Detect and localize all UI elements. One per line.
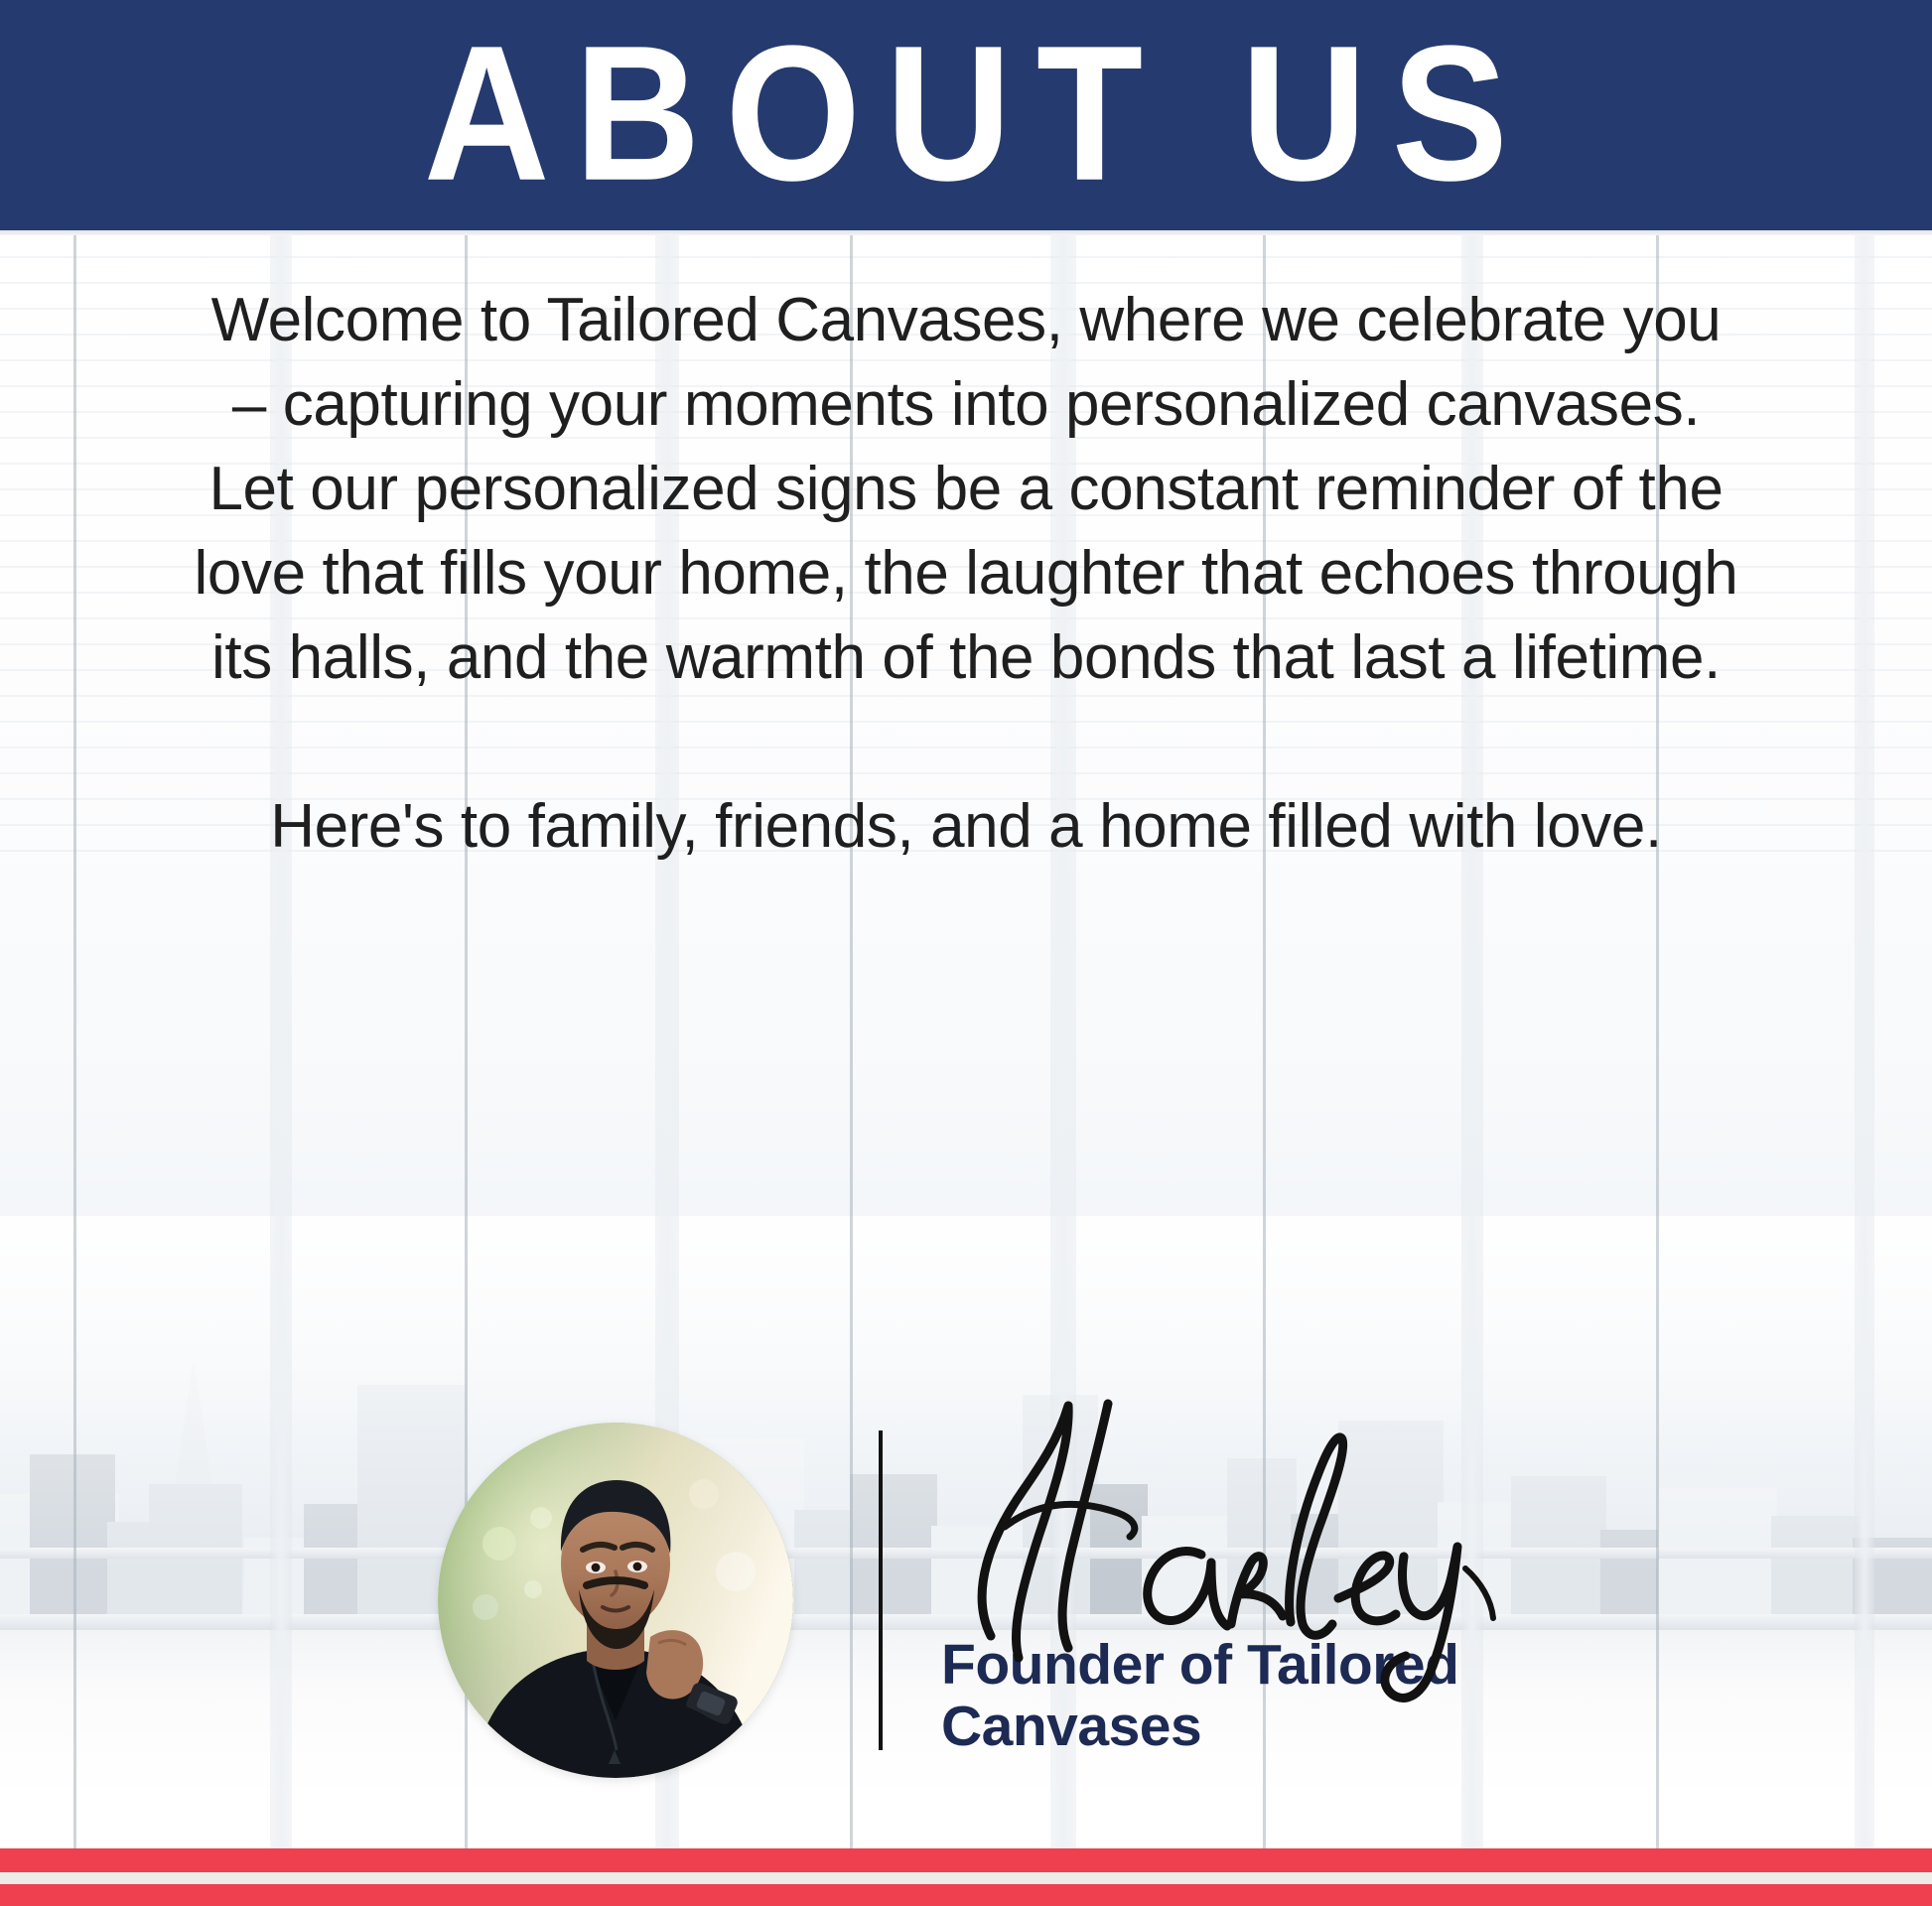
- founder-role-line-2: Canvases: [941, 1696, 1636, 1757]
- about-copy: Welcome to Tailored Canvases, where we c…: [194, 278, 1738, 869]
- about-paragraph-1: Welcome to Tailored Canvases, where we c…: [194, 278, 1738, 700]
- founder-role: Founder of Tailored Canvases: [941, 1634, 1636, 1757]
- paragraph-spacer: [194, 700, 1738, 784]
- signature-divider: [879, 1430, 883, 1750]
- header-band: ABOUT US: [0, 0, 1932, 230]
- footer-bar-gap: [0, 1872, 1932, 1884]
- footer-bar-top: [0, 1848, 1932, 1872]
- founder-role-line-1: Founder of Tailored: [941, 1634, 1636, 1696]
- window-mullion: [73, 230, 76, 1906]
- about-us-graphic: ABOUT US Welcome to Tailored Canvases, w…: [0, 0, 1932, 1906]
- about-paragraph-2: Here's to family, friends, and a home fi…: [194, 784, 1738, 869]
- window-mullion: [1855, 230, 1874, 1906]
- avatar: [438, 1423, 793, 1778]
- page-title: ABOUT US: [399, 16, 1533, 208]
- header-underline: [0, 230, 1932, 235]
- footer-bar-bottom: [0, 1884, 1932, 1906]
